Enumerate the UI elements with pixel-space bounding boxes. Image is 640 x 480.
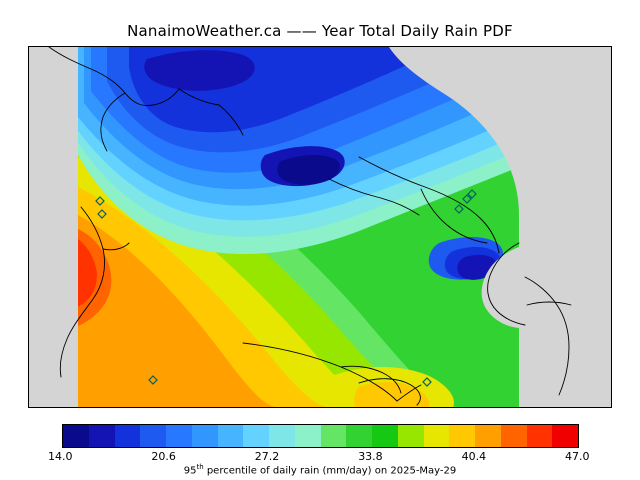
colorbar-cell xyxy=(372,425,398,447)
colorbar-cell xyxy=(63,425,89,447)
colorbar-cell xyxy=(501,425,527,447)
caption-rest: percentile of daily rain (mm/day) on 202… xyxy=(204,465,457,476)
colorbar-caption: 95th percentile of daily rain (mm/day) o… xyxy=(0,463,640,476)
colorbar-cell xyxy=(321,425,347,447)
chart-root: NanaimoWeather.ca —— Year Total Daily Ra… xyxy=(0,0,640,480)
colorbar-cell xyxy=(166,425,192,447)
colorbar-cell xyxy=(449,425,475,447)
caption-prefix: 95 xyxy=(184,465,197,476)
contour-map xyxy=(29,47,611,407)
colorbar-tick-label: 27.2 xyxy=(255,450,280,463)
colorbar-tick-label: 47.0 xyxy=(565,450,590,463)
colorbar-tick-labels: 14.020.627.233.840.447.0 xyxy=(20,450,620,464)
map-plot-area xyxy=(28,46,612,408)
colorbar-tick-label: 20.6 xyxy=(151,450,176,463)
colorbar-cell xyxy=(140,425,166,447)
colorbar-cell xyxy=(552,425,578,447)
colorbar-cell xyxy=(424,425,450,447)
colorbar-tick-label: 40.4 xyxy=(462,450,487,463)
colorbar-tick-label: 14.0 xyxy=(48,450,73,463)
colorbar-cell xyxy=(243,425,269,447)
chart-title: NanaimoWeather.ca —— Year Total Daily Ra… xyxy=(0,22,640,40)
colorbar-cell xyxy=(398,425,424,447)
colorbar-gradient xyxy=(62,424,579,448)
colorbar-tick-label: 33.8 xyxy=(358,450,383,463)
colorbar xyxy=(62,424,579,448)
colorbar-cell xyxy=(295,425,321,447)
colorbar-cell xyxy=(527,425,553,447)
caption-superscript: th xyxy=(196,463,203,471)
colorbar-cell xyxy=(475,425,501,447)
colorbar-cell xyxy=(115,425,141,447)
colorbar-cell xyxy=(192,425,218,447)
data-field xyxy=(29,47,611,407)
colorbar-cell xyxy=(89,425,115,447)
colorbar-cell xyxy=(218,425,244,447)
colorbar-cell xyxy=(269,425,295,447)
colorbar-cell xyxy=(346,425,372,447)
